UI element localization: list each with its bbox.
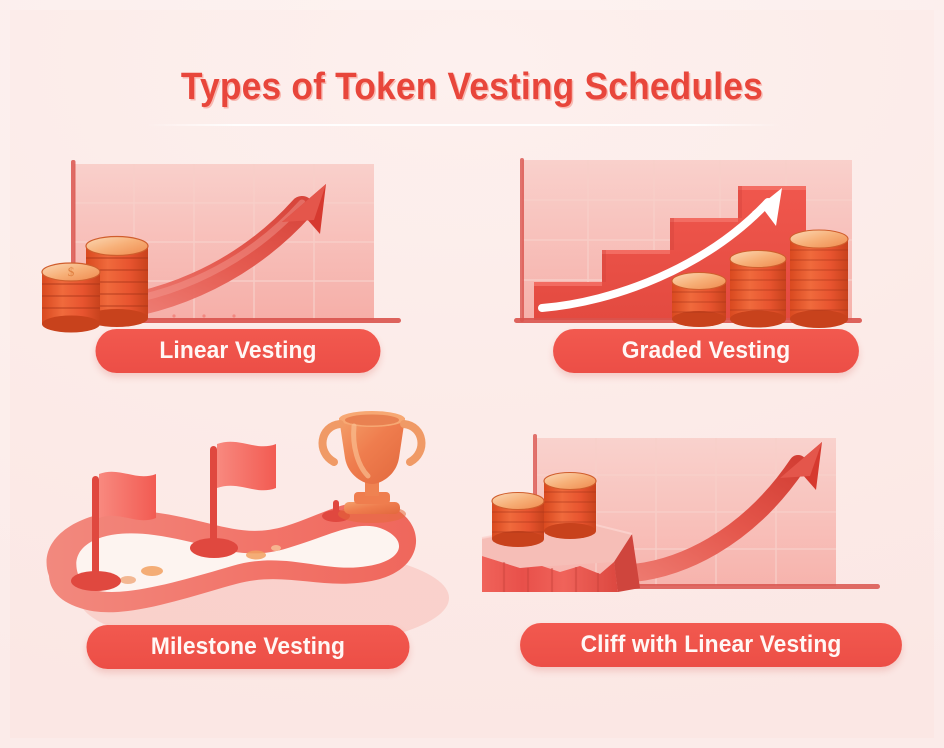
- coin-stack-right: [544, 473, 596, 540]
- path-marker: [271, 545, 281, 551]
- path-marker: [246, 551, 266, 560]
- coin-stack-small: [672, 273, 726, 328]
- coin-stack-medium: [730, 251, 786, 328]
- title-divider: [146, 124, 782, 126]
- label-cliff-with-linear-vesting[interactable]: Cliff with Linear Vesting: [520, 623, 902, 667]
- label-milestone-vesting[interactable]: Milestone Vesting: [87, 625, 410, 669]
- coin-stack-short: $: [42, 263, 100, 333]
- label-linear-vesting[interactable]: Linear Vesting: [96, 329, 381, 373]
- path-marker: [120, 576, 136, 584]
- svg-text:$: $: [68, 264, 75, 279]
- infographic-canvas: Types of Token Vesting Schedules: [0, 0, 944, 748]
- label-graded-vesting[interactable]: Graded Vesting: [553, 329, 859, 373]
- path-marker: [141, 566, 163, 576]
- coin-stack-large: [790, 230, 848, 328]
- coin-stack-left: [492, 493, 544, 548]
- page-title: Types of Token Vesting Schedules: [181, 66, 763, 109]
- page-title-wrap: Types of Token Vesting Schedules: [0, 66, 944, 109]
